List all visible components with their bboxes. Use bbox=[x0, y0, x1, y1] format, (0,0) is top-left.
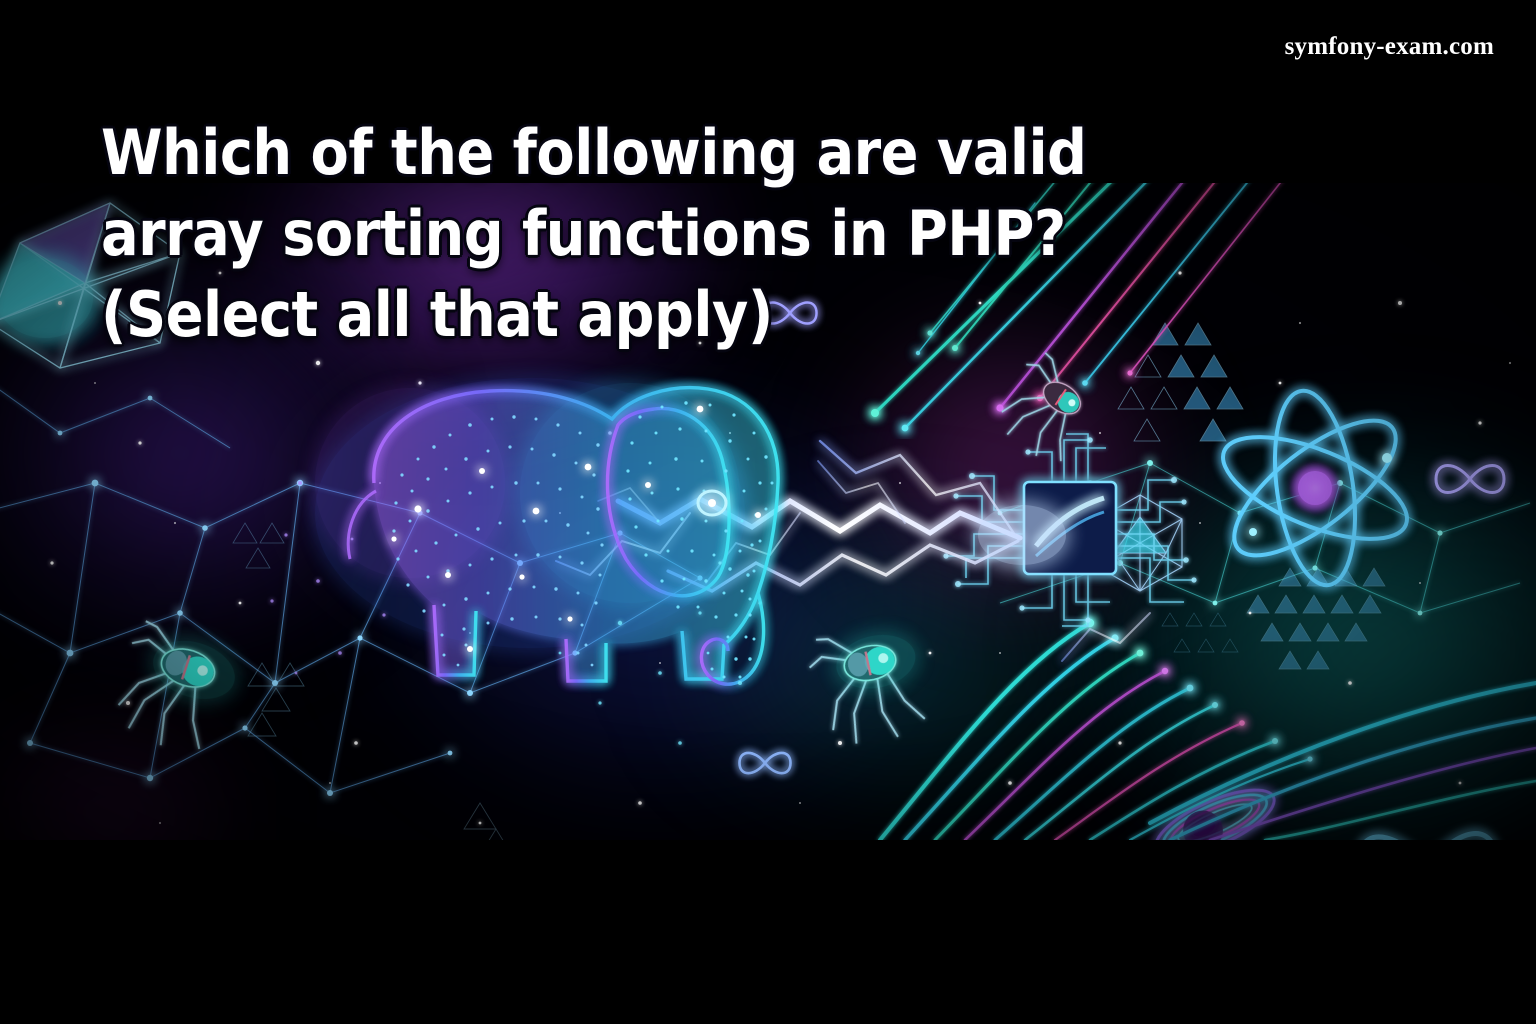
lightning-flash bbox=[978, 505, 1066, 565]
page-title: Which of the following are valid array s… bbox=[101, 112, 1101, 355]
robot-bug bbox=[804, 620, 931, 752]
screenshot-root: Which of the following are valid array s… bbox=[0, 0, 1536, 1024]
ringed-planet bbox=[1148, 777, 1283, 840]
particle-elephant bbox=[315, 378, 778, 684]
infinity-symbol-right bbox=[1436, 466, 1504, 493]
infinity-symbol-center bbox=[740, 753, 791, 773]
site-watermark: symfony-exam.com bbox=[1285, 33, 1494, 61]
atom-symbol-large bbox=[1210, 386, 1420, 591]
atom-symbol-small bbox=[1314, 815, 1536, 840]
